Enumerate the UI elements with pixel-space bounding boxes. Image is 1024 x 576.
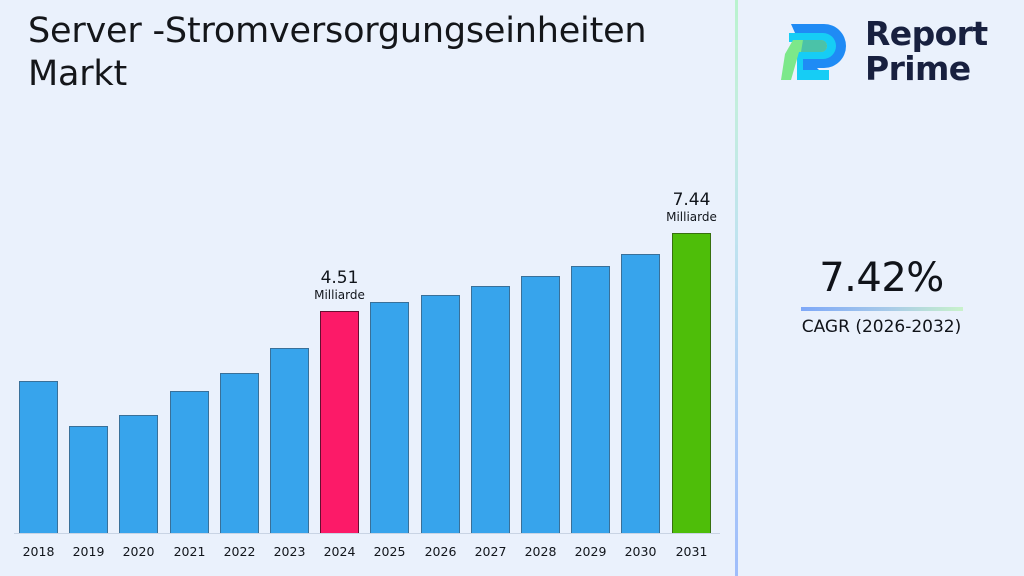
panel-divider (735, 0, 738, 576)
page-title: Server -Stromversorgungseinheiten Markt (28, 10, 688, 96)
bar-2028[interactable] (521, 276, 560, 533)
page-title-line-1: Server -Stromversorgungseinheiten (28, 11, 646, 51)
cagr-value: 7.42% (739, 254, 1024, 302)
report-prime-logo: Report Prime (777, 14, 1009, 90)
plot-area: 4.51Milliarde7.44Milliarde (0, 120, 736, 534)
x-tick-2029: 2029 (565, 544, 617, 559)
bar-2027[interactable] (471, 286, 510, 533)
x-tick-2020: 2020 (113, 544, 165, 559)
x-tick-2030: 2030 (615, 544, 667, 559)
bar-2024[interactable] (320, 311, 359, 533)
x-tick-2021: 2021 (164, 544, 216, 559)
bar-value-2024: 4.51 (295, 269, 385, 287)
bar-2019[interactable] (69, 426, 108, 533)
bar-2018[interactable] (19, 381, 58, 533)
bar-2025[interactable] (370, 302, 409, 533)
bar-2029[interactable] (571, 266, 610, 533)
cagr-block: 7.42% CAGR (2026-2032) (739, 254, 1024, 339)
bar-value-label-2031: 7.44Milliarde (647, 191, 737, 224)
x-tick-2025: 2025 (364, 544, 416, 559)
bar-2030[interactable] (621, 254, 660, 533)
bar-2026[interactable] (421, 295, 460, 533)
x-tick-2027: 2027 (465, 544, 517, 559)
cagr-label: CAGR (2026-2032) (739, 315, 1024, 339)
x-tick-2018: 2018 (13, 544, 65, 559)
x-tick-2024: 2024 (314, 544, 366, 559)
bar-value-unit-2031: Milliarde (647, 211, 737, 224)
bar-chart: 4.51Milliarde7.44Milliarde 2018201920202… (0, 120, 736, 576)
bar-2023[interactable] (270, 348, 309, 533)
cagr-divider-rule (801, 307, 963, 311)
report-prime-logo-icon (777, 18, 855, 86)
slide-canvas: Server -Stromversorgungseinheiten Markt … (0, 0, 1024, 576)
x-axis-tick-labels: 2018201920202021202220232024202520262027… (0, 534, 736, 576)
x-tick-2022: 2022 (214, 544, 266, 559)
page-title-line-2: Markt (28, 54, 127, 94)
bar-2021[interactable] (170, 391, 209, 533)
bar-2022[interactable] (220, 373, 259, 533)
logo-text-line-1: Report (865, 16, 1015, 51)
bar-2031[interactable] (672, 233, 711, 533)
bar-2020[interactable] (119, 415, 158, 533)
bar-value-label-2024: 4.51Milliarde (295, 269, 385, 302)
logo-text-line-2: Prime (865, 51, 1015, 86)
x-tick-2028: 2028 (515, 544, 567, 559)
chart-panel: Server -Stromversorgungseinheiten Markt … (0, 0, 736, 576)
x-tick-2023: 2023 (264, 544, 316, 559)
report-prime-wordmark: Report Prime (865, 16, 1015, 86)
bar-value-2031: 7.44 (647, 191, 737, 209)
x-tick-2031: 2031 (666, 544, 718, 559)
brand-panel: Report Prime 7.42% CAGR (2026-2032) (739, 0, 1024, 576)
bar-value-unit-2024: Milliarde (295, 289, 385, 302)
x-tick-2026: 2026 (415, 544, 467, 559)
x-tick-2019: 2019 (63, 544, 115, 559)
